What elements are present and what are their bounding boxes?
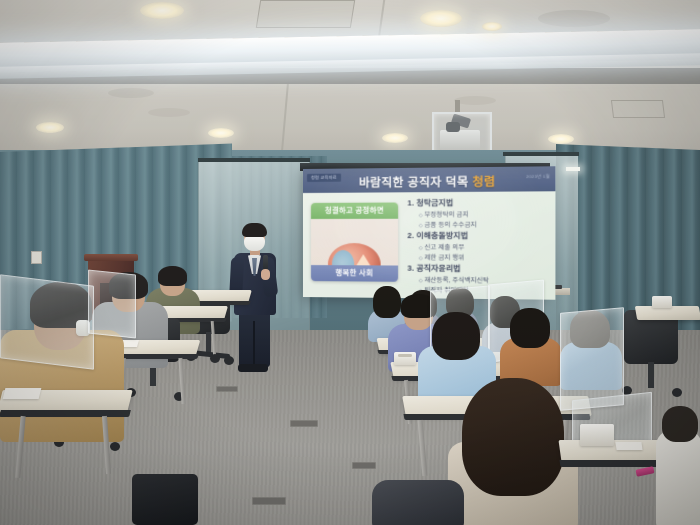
- lectern-top: [84, 254, 138, 261]
- ceiling-vent-icon: [611, 100, 665, 118]
- ceiling-speaker-icon: [148, 108, 190, 117]
- ceiling-downlight-icon: [140, 2, 184, 19]
- attendee-hair: [662, 406, 698, 442]
- acrylic-desk-divider: [0, 274, 94, 370]
- ceiling-speaker-icon: [454, 96, 496, 105]
- ceiling-downlight-icon: [382, 133, 408, 143]
- floor-outlet-cover: [252, 497, 286, 505]
- attendee-hair: [462, 378, 564, 496]
- chair-post: [648, 362, 654, 388]
- floor-outlet-cover: [216, 386, 238, 392]
- ceiling-downlight-icon: [482, 22, 502, 31]
- bullet-heading: 2. 이해충돌방지법: [407, 230, 547, 241]
- ceiling-downlight-icon: [548, 134, 574, 144]
- ceiling-vent-icon: [256, 0, 355, 28]
- glass-frame-top: [503, 152, 579, 156]
- black-backpack[interactable]: [132, 474, 198, 525]
- ceiling-speaker-icon: [108, 88, 154, 98]
- bullet-sub: 금품 등의 수수금지: [419, 219, 548, 228]
- chair-caster: [110, 442, 120, 451]
- presenter-hair: [242, 223, 267, 237]
- ceiling-speaker-icon: [538, 10, 610, 27]
- wall-light-reflection: [566, 167, 580, 171]
- projection-screen: 청렴 교육자료 2023년 1월 바람직한 공직자 덕목 청렴 청결하고 공정하…: [303, 169, 546, 297]
- chair-caster: [672, 388, 682, 397]
- bullet-heading: 1. 청탁금지법: [407, 197, 547, 209]
- glass-frame-top: [198, 158, 310, 162]
- bullet-sub: 부정청탁의 금지: [419, 209, 548, 219]
- training-desk: [635, 306, 700, 320]
- chair-caster: [224, 356, 234, 365]
- slide-infographic: 청결하고 공정하면 행복한 사회: [311, 203, 398, 282]
- lecture-room-photo: 청렴 교육자료 2023년 1월 바람직한 공직자 덕목 청렴 청결하고 공정하…: [0, 0, 700, 525]
- ceiling-downlight-icon: [420, 10, 462, 27]
- slide-title-main: 바람직한 공직자 덕목: [359, 176, 469, 189]
- attendee-long-hair-front: [448, 378, 578, 525]
- desk-caster: [210, 354, 220, 363]
- infographic-bottom-label: 행복한 사회: [311, 265, 398, 282]
- tissue-box-slot: [398, 354, 412, 357]
- attendee-rust-cardigan: [500, 308, 562, 382]
- presenter-shoes: [238, 364, 268, 372]
- presenter-leg-split: [253, 321, 255, 367]
- floor-outlet-cover: [352, 462, 376, 469]
- slide-title-highlight: 청렴: [472, 176, 495, 189]
- light-switch-plate[interactable]: [31, 251, 42, 264]
- presenter-hand: [261, 269, 270, 280]
- ceiling-downlight-icon: [208, 128, 234, 138]
- slide-title: 바람직한 공직자 덕목 청렴: [303, 172, 555, 191]
- handout-paper[interactable]: [3, 388, 42, 399]
- infographic-top-label: 청결하고 공정하면: [311, 203, 398, 219]
- attendee-body: [656, 430, 700, 525]
- handout-paper[interactable]: [615, 442, 642, 450]
- attendee-front-left-dark: [372, 470, 464, 525]
- bullet-sub: 신고 제출 의무: [419, 242, 548, 252]
- tissue-box[interactable]: [580, 424, 614, 446]
- tissue-box[interactable]: [652, 296, 672, 308]
- attendee-hair: [510, 308, 550, 348]
- bullet-heading: 3. 공직자윤리법: [407, 263, 547, 275]
- ceiling-downlight-icon: [36, 122, 64, 133]
- attendee-dark-top-right: [656, 406, 700, 525]
- attendee-hair: [432, 312, 480, 360]
- floor-outlet-cover: [290, 420, 318, 427]
- bullet-sub: 제한 금지 행위: [419, 252, 548, 262]
- acrylic-desk-divider: [88, 269, 136, 338]
- slide-content: 청렴 교육자료 2023년 1월 바람직한 공직자 덕목 청렴 청결하고 공정하…: [303, 166, 555, 300]
- acrylic-desk-divider: [560, 307, 624, 411]
- attendee-body: [372, 480, 464, 525]
